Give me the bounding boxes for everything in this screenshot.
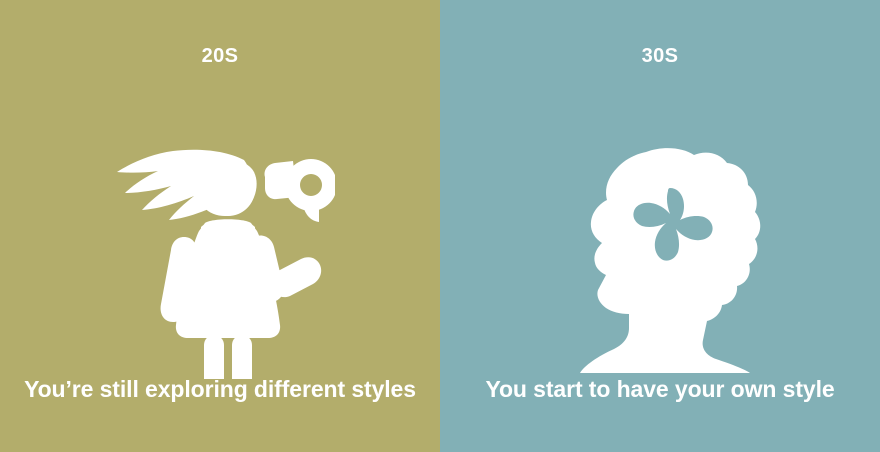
age-label-thirties: 30S bbox=[642, 46, 679, 66]
winged-hair-woman-with-mirror-icon bbox=[117, 150, 335, 379]
age-label-twenties: 20S bbox=[202, 46, 239, 66]
panel-twenties: 20S bbox=[0, 0, 440, 452]
caption-thirties: You start to have your own style bbox=[440, 377, 880, 402]
head-profile-with-pinwheel-icon bbox=[580, 148, 760, 373]
age-style-comparison-infographic: 20S bbox=[0, 0, 880, 452]
panel-thirties: 30S You start to have your own style bbox=[440, 0, 880, 452]
caption-twenties: You’re still exploring different styles bbox=[0, 377, 440, 402]
